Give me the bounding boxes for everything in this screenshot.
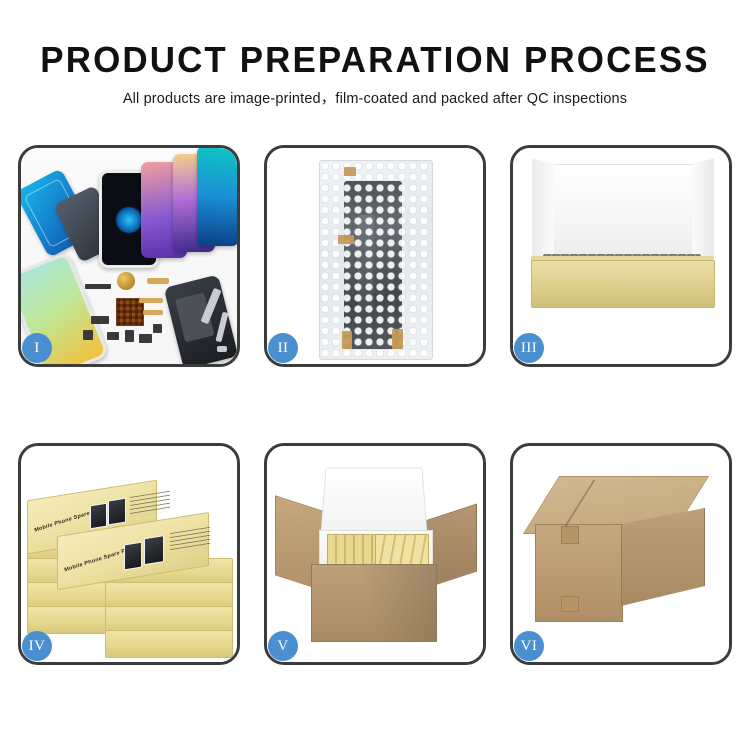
- kraft-inner-box: [531, 260, 715, 308]
- process-step-1[interactable]: I: [18, 145, 240, 367]
- process-grid: I II: [18, 145, 732, 685]
- process-step-6[interactable]: VI: [510, 443, 732, 665]
- step-badge-5: V: [268, 631, 298, 661]
- process-step-4[interactable]: Mobile Phone Spare Parts Mobile Phone Sp…: [18, 443, 240, 665]
- step-badge-3: III: [514, 333, 544, 363]
- step-badge-2: II: [268, 333, 298, 363]
- page-title: PRODUCT PREPARATION PROCESS: [11, 40, 739, 80]
- step-3-image: [513, 148, 729, 364]
- carton-tape-lower: [561, 596, 579, 612]
- step-badge-4: IV: [22, 631, 52, 661]
- bubble-wrap-bag: [319, 160, 433, 360]
- process-step-5[interactable]: V: [264, 443, 486, 665]
- page-subtitle: All products are image-printed，film-coat…: [0, 87, 750, 108]
- carton-tape-upper: [561, 526, 579, 544]
- step-1-image: [21, 148, 237, 364]
- step-badge-6: VI: [514, 631, 544, 661]
- step-badge-1: I: [22, 333, 52, 363]
- step-4-image: Mobile Phone Spare Parts Mobile Phone Sp…: [21, 446, 237, 662]
- product-process-infographic: PRODUCT PREPARATION PROCESS All products…: [0, 0, 750, 750]
- outer-carton: [311, 564, 437, 642]
- process-step-2[interactable]: II: [264, 145, 486, 367]
- styrofoam-lid: [320, 468, 428, 539]
- step-2-image: [267, 148, 483, 364]
- step-6-image: [513, 446, 729, 662]
- step-5-image: [267, 446, 483, 662]
- box-stack: Mobile Phone Spare Parts Mobile Phone Sp…: [27, 472, 233, 642]
- speaker-module: [117, 272, 135, 290]
- header: PRODUCT PREPARATION PROCESS All products…: [0, 40, 750, 108]
- process-step-3[interactable]: III: [510, 145, 732, 367]
- phone-teal: [197, 148, 237, 246]
- carton-front-face: [535, 524, 623, 622]
